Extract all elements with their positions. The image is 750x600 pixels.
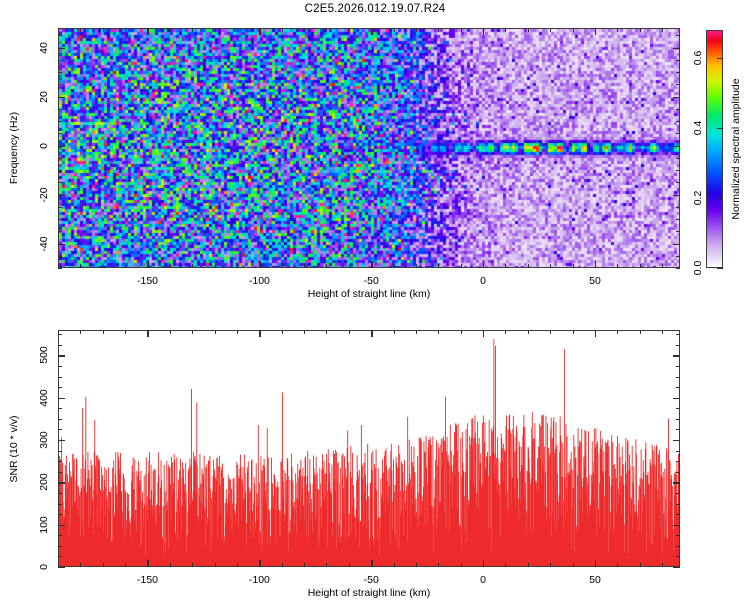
major-xtick xyxy=(147,261,148,268)
minor-ytick xyxy=(676,84,680,85)
major-xtick xyxy=(259,261,260,268)
minor-ytick xyxy=(58,219,62,220)
minor-xtick xyxy=(550,264,551,268)
minor-xtick xyxy=(505,28,506,32)
minor-xtick xyxy=(461,28,462,32)
minor-xtick xyxy=(192,330,193,334)
minor-xtick xyxy=(349,563,350,567)
minor-xtick xyxy=(282,264,283,268)
minor-ytick xyxy=(58,268,62,269)
xtick-label: -100 xyxy=(249,574,270,586)
minor-ytick xyxy=(676,387,680,388)
minor-xtick xyxy=(349,330,350,334)
minor-xtick xyxy=(192,28,193,32)
minor-ytick xyxy=(58,170,62,171)
minor-xtick xyxy=(505,330,506,334)
minor-xtick xyxy=(416,563,417,567)
minor-ytick xyxy=(58,546,62,547)
minor-ytick xyxy=(676,366,680,367)
minor-xtick xyxy=(349,264,350,268)
minor-ytick xyxy=(676,514,680,515)
minor-ytick xyxy=(58,334,62,335)
minor-xtick xyxy=(640,28,641,32)
minor-xtick xyxy=(438,563,439,567)
minor-ytick xyxy=(676,461,680,462)
minor-xtick xyxy=(662,264,663,268)
minor-ytick xyxy=(676,546,680,547)
minor-ytick xyxy=(58,419,62,420)
minor-xtick xyxy=(326,28,327,32)
minor-xtick xyxy=(125,264,126,268)
minor-xtick xyxy=(528,264,529,268)
minor-xtick xyxy=(528,28,529,32)
minor-xtick xyxy=(394,330,395,334)
minor-xtick xyxy=(505,264,506,268)
major-ytick xyxy=(58,355,65,356)
colorbar xyxy=(706,30,723,268)
minor-ytick xyxy=(676,334,680,335)
minor-xtick xyxy=(103,264,104,268)
xtick-label: -150 xyxy=(137,275,158,287)
minor-xtick xyxy=(662,330,663,334)
minor-ytick xyxy=(58,84,62,85)
minor-xtick xyxy=(326,330,327,334)
minor-xtick xyxy=(617,563,618,567)
minor-ytick xyxy=(58,377,62,378)
minor-xtick xyxy=(103,330,104,334)
minor-xtick xyxy=(58,28,59,32)
xtick-label: -50 xyxy=(364,574,379,586)
minor-ytick xyxy=(676,535,680,536)
ytick-label: 40 xyxy=(38,42,50,54)
minor-ytick xyxy=(676,408,680,409)
minor-xtick xyxy=(461,330,462,334)
major-xtick xyxy=(259,560,260,567)
minor-xtick xyxy=(237,28,238,32)
major-ytick xyxy=(58,48,65,49)
major-xtick xyxy=(147,330,148,337)
minor-ytick xyxy=(676,35,680,36)
minor-xtick xyxy=(215,264,216,268)
minor-ytick xyxy=(676,419,680,420)
minor-xtick xyxy=(394,264,395,268)
major-xtick xyxy=(483,28,484,35)
minor-xtick xyxy=(573,264,574,268)
minor-xtick xyxy=(416,264,417,268)
minor-xtick xyxy=(640,563,641,567)
ytick-label: 0 xyxy=(38,564,50,570)
minor-xtick xyxy=(304,264,305,268)
minor-ytick xyxy=(676,268,680,269)
minor-xtick xyxy=(80,264,81,268)
minor-ytick xyxy=(58,121,62,122)
major-xtick xyxy=(371,261,372,268)
ytick-label: 100 xyxy=(38,516,50,534)
colorbar-tick-label: 0.2 xyxy=(692,191,704,206)
minor-xtick xyxy=(192,264,193,268)
ytick-label: 0 xyxy=(38,143,50,149)
major-xtick xyxy=(595,330,596,337)
minor-xtick xyxy=(416,28,417,32)
minor-xtick xyxy=(550,563,551,567)
page-title: C2E5.2026.012.19.07.R24 xyxy=(0,3,750,15)
minor-xtick xyxy=(170,563,171,567)
major-xtick xyxy=(147,560,148,567)
minor-ytick xyxy=(676,493,680,494)
minor-ytick xyxy=(676,170,680,171)
minor-ytick xyxy=(58,504,62,505)
minor-xtick xyxy=(394,563,395,567)
major-xtick xyxy=(483,560,484,567)
minor-xtick xyxy=(125,330,126,334)
yaxis-title: SNR (10 * v/v) xyxy=(8,415,20,482)
ytick-label: 200 xyxy=(38,474,50,492)
minor-ytick xyxy=(676,72,680,73)
major-ytick xyxy=(673,146,680,147)
minor-xtick xyxy=(617,330,618,334)
minor-xtick xyxy=(304,28,305,32)
minor-ytick xyxy=(676,451,680,452)
major-xtick xyxy=(483,330,484,337)
snr-plot-area[interactable] xyxy=(58,330,680,567)
colorbar-tick-label: 0.4 xyxy=(692,121,704,136)
major-ytick xyxy=(673,195,680,196)
minor-ytick xyxy=(58,158,62,159)
minor-xtick xyxy=(573,330,574,334)
major-ytick xyxy=(58,244,65,245)
minor-xtick xyxy=(237,330,238,334)
minor-ytick xyxy=(58,207,62,208)
minor-ytick xyxy=(676,429,680,430)
ytick-label: 500 xyxy=(38,347,50,365)
minor-ytick xyxy=(676,158,680,159)
major-xtick xyxy=(595,560,596,567)
ytick-label: -20 xyxy=(38,187,50,202)
minor-ytick xyxy=(676,109,680,110)
major-xtick xyxy=(147,28,148,35)
minor-xtick xyxy=(528,330,529,334)
xtick-label: 0 xyxy=(480,574,486,586)
minor-ytick xyxy=(58,256,62,257)
minor-xtick xyxy=(461,563,462,567)
ytick-label: -40 xyxy=(38,236,50,251)
minor-xtick xyxy=(125,563,126,567)
minor-xtick xyxy=(617,28,618,32)
major-ytick xyxy=(58,195,65,196)
minor-xtick xyxy=(170,264,171,268)
major-ytick xyxy=(673,567,680,568)
xtick-label: -150 xyxy=(137,574,158,586)
minor-ytick xyxy=(676,60,680,61)
minor-ytick xyxy=(58,514,62,515)
minor-xtick xyxy=(326,563,327,567)
minor-ytick xyxy=(676,345,680,346)
minor-xtick xyxy=(528,563,529,567)
minor-ytick xyxy=(58,345,62,346)
xtick-label: -50 xyxy=(364,275,379,287)
minor-xtick xyxy=(662,28,663,32)
xaxis-title: Height of straight line (km) xyxy=(308,288,431,300)
spectrogram-plot-area[interactable] xyxy=(58,28,680,268)
major-ytick xyxy=(58,398,65,399)
xtick-label: -100 xyxy=(249,275,270,287)
minor-xtick xyxy=(662,563,663,567)
minor-ytick xyxy=(58,366,62,367)
major-xtick xyxy=(595,28,596,35)
minor-xtick xyxy=(640,330,641,334)
minor-xtick xyxy=(215,330,216,334)
major-ytick xyxy=(673,244,680,245)
minor-ytick xyxy=(58,387,62,388)
minor-xtick xyxy=(237,563,238,567)
ytick-label: 20 xyxy=(38,91,50,103)
minor-xtick xyxy=(640,264,641,268)
minor-ytick xyxy=(676,556,680,557)
minor-ytick xyxy=(58,109,62,110)
colorbar-tick xyxy=(717,268,723,269)
colorbar-tick xyxy=(717,198,723,199)
minor-xtick xyxy=(192,563,193,567)
minor-xtick xyxy=(304,563,305,567)
snr-line xyxy=(59,339,679,566)
major-ytick xyxy=(58,146,65,147)
minor-ytick xyxy=(676,472,680,473)
minor-xtick xyxy=(80,28,81,32)
major-ytick xyxy=(673,525,680,526)
minor-ytick xyxy=(58,408,62,409)
minor-xtick xyxy=(617,264,618,268)
major-ytick xyxy=(673,97,680,98)
minor-xtick xyxy=(237,264,238,268)
major-xtick xyxy=(371,28,372,35)
minor-xtick xyxy=(416,330,417,334)
major-ytick xyxy=(58,525,65,526)
xtick-label: 50 xyxy=(589,574,601,586)
xtick-label: 50 xyxy=(589,275,601,287)
ytick-label: 400 xyxy=(38,389,50,407)
minor-ytick xyxy=(58,182,62,183)
minor-xtick xyxy=(550,28,551,32)
colorbar-tick-label: 0.6 xyxy=(692,51,704,66)
minor-xtick xyxy=(215,563,216,567)
minor-ytick xyxy=(676,207,680,208)
major-xtick xyxy=(483,261,484,268)
minor-xtick xyxy=(304,330,305,334)
minor-xtick xyxy=(215,28,216,32)
major-ytick xyxy=(58,97,65,98)
snr-trace xyxy=(59,331,679,566)
minor-ytick xyxy=(58,231,62,232)
minor-ytick xyxy=(676,504,680,505)
figure-root: C2E5.2026.012.19.07.R24 Normalized spect… xyxy=(0,0,750,600)
major-ytick xyxy=(58,440,65,441)
colorbar-tick xyxy=(717,128,723,129)
colorbar-tick xyxy=(717,58,723,59)
minor-ytick xyxy=(676,219,680,220)
minor-xtick xyxy=(438,330,439,334)
minor-xtick xyxy=(282,330,283,334)
minor-ytick xyxy=(676,182,680,183)
xtick-label: 0 xyxy=(480,275,486,287)
minor-xtick xyxy=(573,563,574,567)
major-ytick xyxy=(673,398,680,399)
minor-xtick xyxy=(103,28,104,32)
minor-xtick xyxy=(550,330,551,334)
minor-ytick xyxy=(58,133,62,134)
yaxis-title: Frequency (Hz) xyxy=(8,112,20,184)
colorbar-gradient xyxy=(707,31,722,267)
minor-xtick xyxy=(170,330,171,334)
minor-xtick xyxy=(282,28,283,32)
minor-xtick xyxy=(80,330,81,334)
major-xtick xyxy=(371,560,372,567)
minor-ytick xyxy=(58,461,62,462)
minor-ytick xyxy=(58,60,62,61)
colorbar-tick-label: 0.0 xyxy=(692,261,704,276)
minor-ytick xyxy=(58,72,62,73)
major-ytick xyxy=(673,440,680,441)
major-ytick xyxy=(58,482,65,483)
minor-xtick xyxy=(80,563,81,567)
minor-ytick xyxy=(58,556,62,557)
minor-xtick xyxy=(438,264,439,268)
minor-xtick xyxy=(573,28,574,32)
major-xtick xyxy=(595,261,596,268)
minor-ytick xyxy=(58,429,62,430)
minor-ytick xyxy=(676,121,680,122)
major-xtick xyxy=(259,28,260,35)
minor-xtick xyxy=(394,28,395,32)
major-xtick xyxy=(371,330,372,337)
minor-xtick xyxy=(125,28,126,32)
minor-xtick xyxy=(505,563,506,567)
major-ytick xyxy=(673,482,680,483)
spectrogram-image xyxy=(59,29,680,268)
minor-ytick xyxy=(58,472,62,473)
minor-xtick xyxy=(282,563,283,567)
major-xtick xyxy=(259,330,260,337)
minor-ytick xyxy=(58,535,62,536)
minor-xtick xyxy=(326,264,327,268)
xaxis-title: Height of straight line (km) xyxy=(308,587,431,599)
minor-xtick xyxy=(438,28,439,32)
minor-ytick xyxy=(58,35,62,36)
colorbar-title: Normalized spectral amplitude xyxy=(730,78,742,219)
minor-xtick xyxy=(349,28,350,32)
minor-ytick xyxy=(676,133,680,134)
ytick-label: 300 xyxy=(38,431,50,449)
major-ytick xyxy=(673,355,680,356)
minor-ytick xyxy=(58,493,62,494)
major-ytick xyxy=(673,48,680,49)
minor-ytick xyxy=(676,231,680,232)
minor-xtick xyxy=(103,563,104,567)
minor-ytick xyxy=(58,451,62,452)
minor-xtick xyxy=(170,28,171,32)
minor-ytick xyxy=(676,256,680,257)
major-ytick xyxy=(58,567,65,568)
minor-ytick xyxy=(676,377,680,378)
minor-xtick xyxy=(461,264,462,268)
